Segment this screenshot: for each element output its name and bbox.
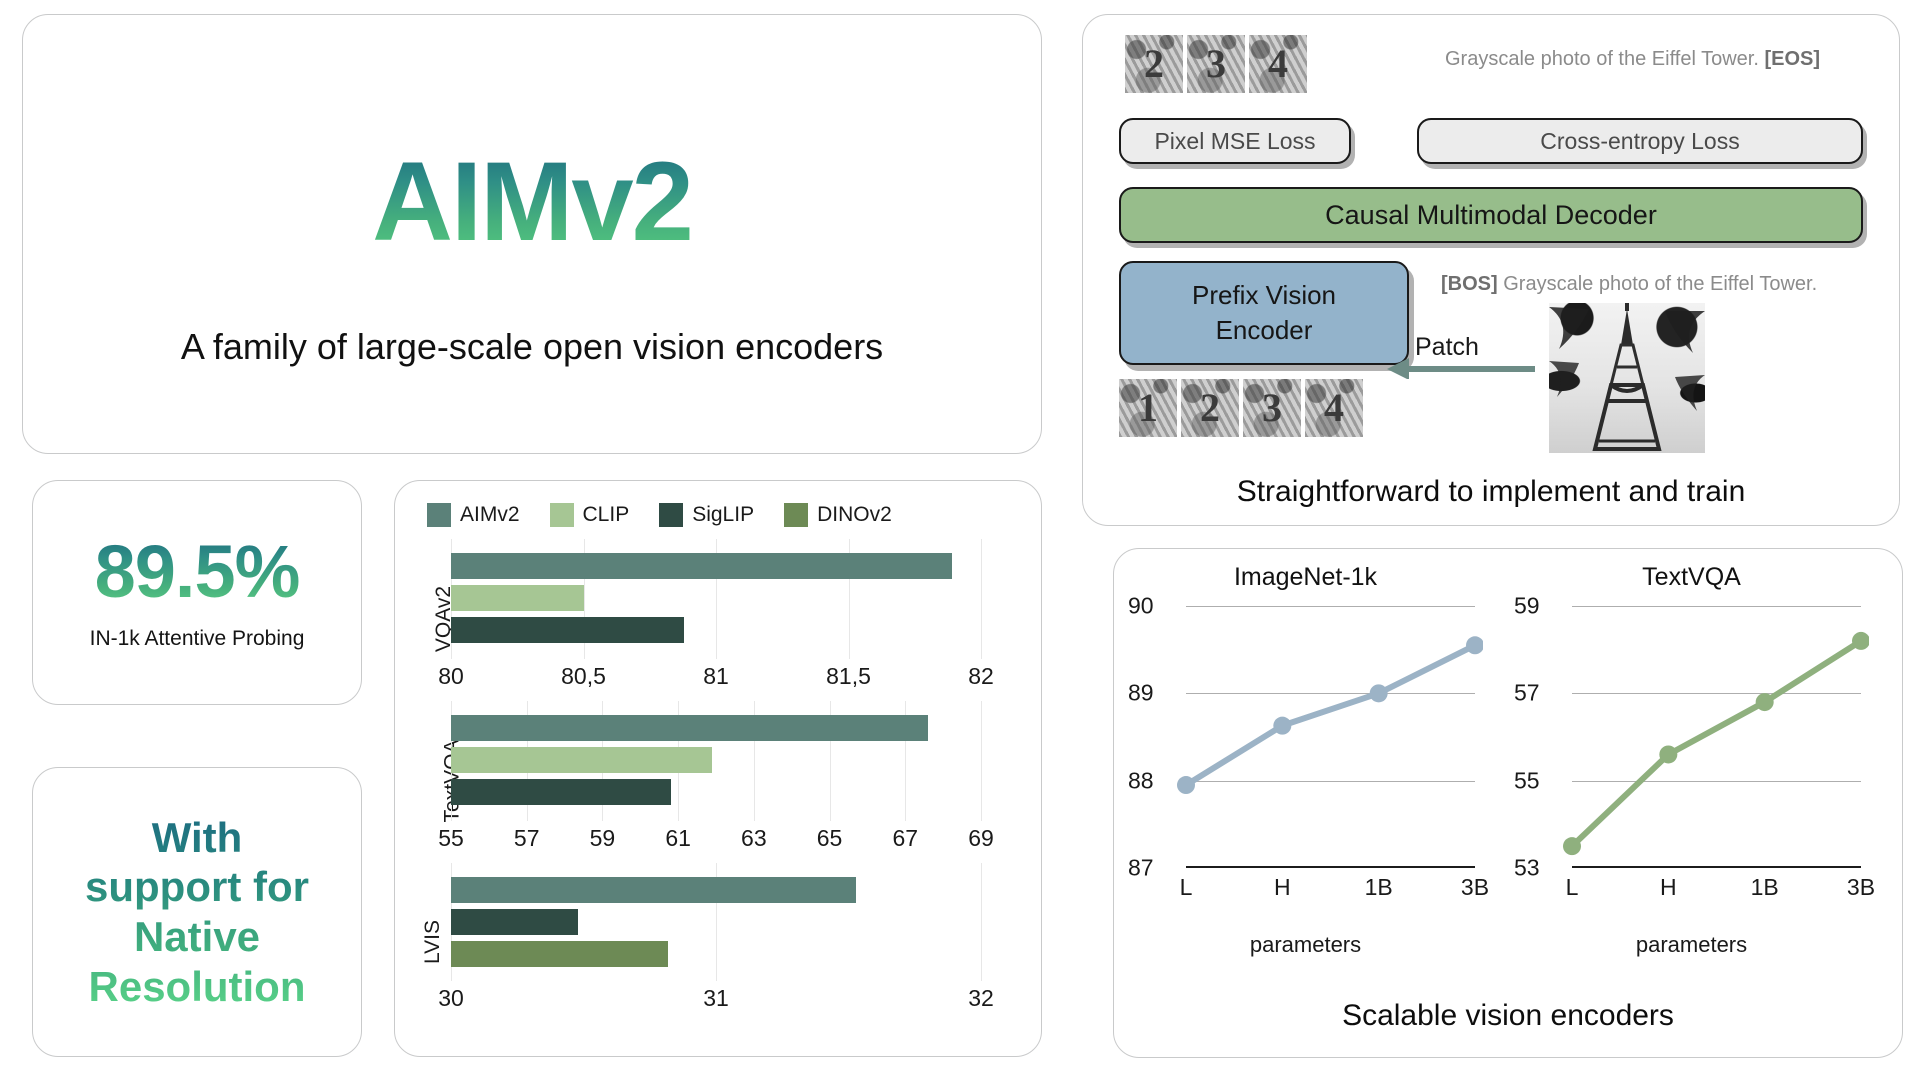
legend-label-aimv2: AIMv2 [460,503,520,527]
stat-card: 89.5% IN-1k Attentive Probing [32,480,362,705]
bos-token: [BOS] [1441,273,1498,295]
output-patch-2: 2 [1125,35,1183,93]
bar-textvqa-clip [451,747,712,773]
data-point-L [1177,776,1195,794]
patch-label-text: Patch [1415,333,1479,361]
imagenet-line-chart: ImageNet-1k87888990LH1B3Bparameters [1128,563,1483,959]
bar-group-textvqa: TextVQA5557596163656769 [395,701,1041,861]
native-line-4: Resolution [89,963,306,1010]
patch-number: 2 [1200,388,1220,428]
encoder-label-line-2: Encoder [1216,315,1313,345]
stat-value: 89.5% [95,535,300,609]
line-chart-x-tick: L [1566,874,1579,901]
bar-vqav2-siglip [451,617,684,643]
axis-tick: 59 [590,825,616,852]
scaling-charts-card: ImageNet-1k87888990LH1B3Bparameters Text… [1113,548,1903,1058]
target-caption-sentence: Grayscale photo of the Eiffel Tower. [1445,48,1759,70]
aimv2-logo: AIMv2 [372,146,692,258]
encoder-label: Prefix Vision Encoder [1192,278,1336,348]
axis-tick: 30 [438,985,464,1012]
legend-swatch-siglip [659,503,683,527]
bar-textvqa-aimv2 [451,715,928,741]
patch-number: 2 [1144,44,1164,84]
data-point-H [1273,717,1291,735]
line-chart-x-tick: L [1180,874,1193,901]
line-chart-x-axis-label: parameters [1128,932,1483,958]
native-line-1: With [152,814,243,861]
axis-tick: 65 [817,825,843,852]
bar-group-vqav2: VQAv28080,58181,582 [395,539,1041,699]
line-chart-x-tick: 1B [1751,874,1779,901]
input-patch-2: 2 [1181,379,1239,437]
input-patch-1: 1 [1119,379,1177,437]
line-chart-series [1514,606,1869,868]
bar-axis-textvqa: 5557596163656769 [451,821,1041,861]
legend-swatch-aimv2 [427,503,451,527]
hero-tagline: A family of large-scale open vision enco… [181,326,883,368]
axis-tick: 63 [741,825,767,852]
bar-group-label-lvis: LVIS [421,920,445,964]
axis-tick: 57 [514,825,540,852]
eos-token: [EOS] [1764,48,1820,70]
axis-tick: 80,5 [561,663,606,690]
stat-label: IN-1k Attentive Probing [90,627,305,651]
patch-number: 3 [1262,388,1282,428]
line-chart-x-tick: 1B [1365,874,1393,901]
architecture-caption: Straightforward to implement and train [1083,475,1899,509]
output-patch-3: 3 [1187,35,1245,93]
bar-group-lvis: LVIS303132 [395,863,1041,1021]
scaling-caption: Scalable vision encoders [1114,999,1902,1033]
data-point-1B [1370,684,1388,702]
line-chart-x-ticks: LH1B3B [1514,868,1869,898]
data-point-L [1563,837,1581,855]
axis-tick: 81 [703,663,729,690]
gridline [981,701,982,821]
gridline [981,863,982,981]
axis-tick: 67 [892,825,918,852]
legend-label-siglip: SigLIP [692,503,754,527]
encoder-input-patches: 1234 [1119,379,1363,437]
patch-number: 3 [1206,44,1226,84]
bar-chart-legend: AIMv2CLIPSigLIPDINOv2 [395,481,1041,537]
axis-tick: 80 [438,663,464,690]
hero-card: AIMv2 A family of large-scale open visio… [22,14,1042,454]
line-chart-x-tick: H [1660,874,1677,901]
input-caption-text: [BOS] Grayscale photo of the Eiffel Towe… [1441,273,1817,296]
axis-tick: 55 [438,825,464,852]
legend-swatch-clip [550,503,574,527]
input-patch-4: 4 [1305,379,1363,437]
line-chart-x-tick: H [1274,874,1291,901]
native-resolution-card: With support for Native Resolution [32,767,362,1057]
bar-plot-lvis [451,863,1041,981]
cross-entropy-loss-label: Cross-entropy Loss [1540,128,1739,155]
bar-plot-vqav2 [451,539,1041,659]
gridline [981,539,982,659]
data-point-H [1659,745,1677,763]
prefix-vision-encoder-box: Prefix Vision Encoder [1119,261,1409,365]
output-patch-4: 4 [1249,35,1307,93]
line-chart-x-tick: 3B [1847,874,1875,901]
bar-textvqa-siglip [451,779,671,805]
eiffel-tower-illustration [1549,303,1705,451]
line-chart-series [1128,606,1483,868]
benchmark-bar-chart-card: AIMv2CLIPSigLIPDINOv2 VQAv28080,58181,58… [394,480,1042,1057]
line-chart-plot: 53555759 [1514,606,1869,868]
axis-tick: 31 [703,985,729,1012]
patch-number: 4 [1324,388,1344,428]
textvqa-line-chart: TextVQA53555759LH1B3Bparameters [1514,563,1869,959]
axis-tick: 69 [968,825,994,852]
axis-tick: 61 [665,825,691,852]
legend-label-clip: CLIP [583,503,630,527]
legend-item-aimv2: AIMv2 [427,503,520,527]
axis-tick: 32 [968,985,994,1012]
target-caption-text: Grayscale photo of the Eiffel Tower. [EO… [1445,48,1820,71]
input-patch-3: 3 [1243,379,1301,437]
causal-multimodal-decoder-box: Causal Multimodal Decoder [1119,187,1863,243]
native-line-3: Native [134,913,260,960]
axis-tick: 82 [968,663,994,690]
pixel-mse-loss-label: Pixel MSE Loss [1154,128,1315,155]
eiffel-tower-photo [1549,303,1705,453]
line-chart-title: ImageNet-1k [1128,563,1483,592]
data-point-1B [1756,693,1774,711]
line-chart-plot: 87888990 [1128,606,1483,868]
architecture-diagram-card: 234 Pixel MSE Loss Cross-entropy Loss Ca… [1082,14,1900,526]
input-caption-sentence: Grayscale photo of the Eiffel Tower. [1503,273,1817,295]
bar-lvis-aimv2 [451,877,856,903]
bar-lvis-dinov2 [451,941,668,967]
bar-chart-groups: VQAv28080,58181,582TextVQA55575961636567… [395,539,1041,1021]
line-chart-title: TextVQA [1514,563,1869,592]
axis-tick: 81,5 [826,663,871,690]
native-line-2: support for [85,863,309,910]
legend-item-siglip: SigLIP [659,503,754,527]
bar-axis-lvis: 303132 [451,981,1041,1021]
line-chart-x-axis-label: parameters [1514,932,1869,958]
bar-vqav2-aimv2 [451,553,952,579]
native-resolution-text: With support for Native Resolution [85,813,309,1011]
legend-label-dinov2: DINOv2 [817,503,892,527]
legend-swatch-dinov2 [784,503,808,527]
decoder-label: Causal Multimodal Decoder [1325,200,1657,231]
pixel-mse-loss-box: Pixel MSE Loss [1119,118,1351,164]
encoder-label-line-1: Prefix Vision [1192,280,1336,310]
bar-axis-vqav2: 8080,58181,582 [451,659,1041,699]
legend-item-dinov2: DINOv2 [784,503,892,527]
patch-number: 1 [1138,388,1158,428]
patch-number: 4 [1268,44,1288,84]
bar-vqav2-clip [451,585,584,611]
decoder-output-patches: 234 [1125,35,1307,93]
patch-arrow-label: Patch [1415,333,1479,362]
bar-plot-textvqa [451,701,1041,821]
line-chart-x-ticks: LH1B3B [1128,868,1483,898]
legend-item-clip: CLIP [550,503,630,527]
bar-lvis-siglip [451,909,578,935]
cross-entropy-loss-box: Cross-entropy Loss [1417,118,1863,164]
line-chart-x-tick: 3B [1461,874,1489,901]
